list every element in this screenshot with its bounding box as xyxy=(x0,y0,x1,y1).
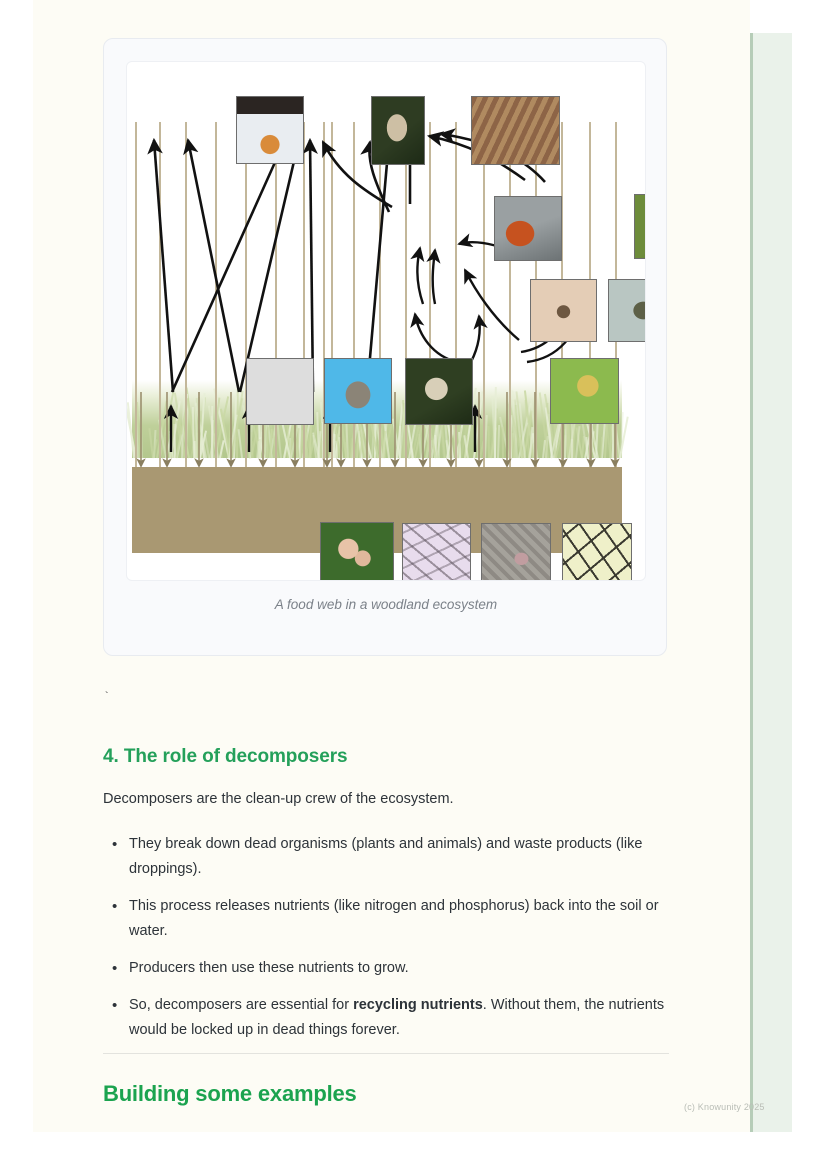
earthworm-photo-fill xyxy=(482,524,550,581)
food-web-photo-toad xyxy=(634,194,646,259)
figure-caption: A food web in a woodland ecosystem xyxy=(104,597,668,612)
squirrel-photo-fill xyxy=(247,359,313,424)
fox-photo-fill xyxy=(237,97,303,163)
food-web-photo-owl xyxy=(371,96,425,165)
figure-card[interactable]: A food web in a woodland ecosystem xyxy=(103,38,667,656)
bullet-item: This process releases nutrients (like ni… xyxy=(129,894,673,944)
bullet-item: They break down dead organisms (plants a… xyxy=(129,832,673,882)
food-web-photo-mushrooms xyxy=(320,522,394,581)
right-side-panel xyxy=(750,33,792,1132)
right-side-panel-edge xyxy=(750,33,753,1132)
owl-photo-fill xyxy=(372,97,424,164)
beetle-photo-fill xyxy=(551,359,618,423)
toad-photo-fill xyxy=(635,195,646,258)
bullet-item: So, decomposers are essential for recycl… xyxy=(129,993,673,1043)
section-heading-decomposers: 4. The role of decomposers xyxy=(103,746,347,768)
mushrooms-photo-fill xyxy=(321,523,393,581)
food-web-photo-spider xyxy=(530,279,597,342)
note-sheet: A food web in a woodland ecosystem ` 4. … xyxy=(33,0,750,1132)
food-web-photo-robin xyxy=(494,196,562,261)
food-web-photo-caterpillar xyxy=(608,279,646,342)
sparrow-photo-fill xyxy=(406,359,472,424)
snake-photo-fill xyxy=(472,97,559,164)
food-web-photo-beetle xyxy=(550,358,619,424)
food-web-photo-earthworm xyxy=(481,523,551,581)
food-web-photo-sparrow xyxy=(405,358,473,425)
bullet-emphasis: recycling nutrients xyxy=(353,997,483,1013)
figure-image-frame xyxy=(126,61,646,581)
food-web-photo-snake xyxy=(471,96,560,165)
food-web-photo-fox xyxy=(236,96,304,164)
decomposer-bullet-list: They break down dead organisms (plants a… xyxy=(103,832,673,1055)
bullet-item: Producers then use these nutrients to gr… xyxy=(129,956,673,981)
document-page: A food web in a woodland ecosystem ` 4. … xyxy=(0,0,828,1171)
mouse-photo-fill xyxy=(325,359,391,423)
bacteria-photo-fill xyxy=(563,524,631,581)
section-divider xyxy=(103,1053,669,1054)
food-web-photo-fungal-hyphae xyxy=(402,523,471,581)
food-web-photo-squirrel xyxy=(246,358,314,425)
section-lead-text: Decomposers are the clean-up crew of the… xyxy=(103,791,454,807)
food-web-diagram xyxy=(127,62,646,581)
robin-photo-fill xyxy=(495,197,561,260)
copyright-watermark: (c) Knowunity 2025 xyxy=(684,1102,765,1112)
next-section-heading: Building some examples xyxy=(103,1081,357,1107)
stray-backtick: ` xyxy=(103,690,110,704)
food-web-photo-bacteria xyxy=(562,523,632,581)
food-web-photo-mouse xyxy=(324,358,392,424)
fungal-hyphae-photo-fill xyxy=(403,524,470,581)
spider-photo-fill xyxy=(531,280,596,341)
caterpillar-photo-fill xyxy=(609,280,646,341)
